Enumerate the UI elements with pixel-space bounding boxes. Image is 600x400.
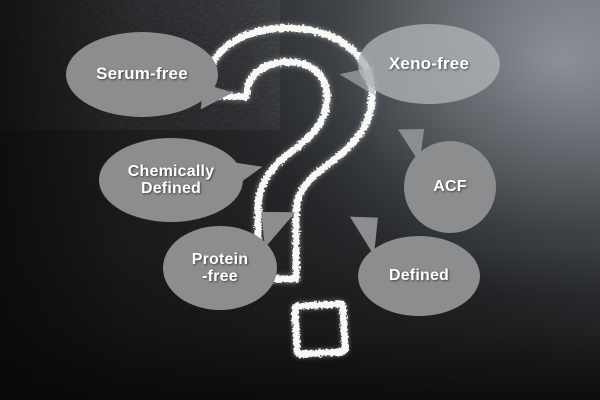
bubble-label-acf: ACF <box>427 178 472 195</box>
bubble-tail-protein-free <box>261 208 299 247</box>
bubble-protein-free[interactable]: Protein -free <box>163 226 277 310</box>
bubble-label-line-2: -free <box>202 268 238 285</box>
bubble-label-protein-free: Protein -free <box>186 251 255 286</box>
chalkboard-illustration: Serum-free Xeno-free Chemically Defined … <box>0 0 600 400</box>
bubble-label-line-1: Protein <box>192 251 249 268</box>
bubble-label-chemically-defined: Chemically Defined <box>122 163 220 198</box>
bubble-label-serum-free: Serum-free <box>90 65 194 83</box>
bubble-label-xeno-free: Xeno-free <box>383 55 475 73</box>
bubble-xeno-free[interactable]: Xeno-free <box>358 24 500 104</box>
bubble-label-line-1: Chemically <box>128 163 214 180</box>
bubble-acf[interactable]: ACF <box>404 141 496 233</box>
bubble-chemically-defined[interactable]: Chemically Defined <box>99 138 243 222</box>
bubble-label-line-2: Defined <box>141 180 201 197</box>
bubble-defined[interactable]: Defined <box>358 236 480 316</box>
bubble-label-defined: Defined <box>383 267 455 284</box>
bubble-serum-free[interactable]: Serum-free <box>66 32 218 117</box>
